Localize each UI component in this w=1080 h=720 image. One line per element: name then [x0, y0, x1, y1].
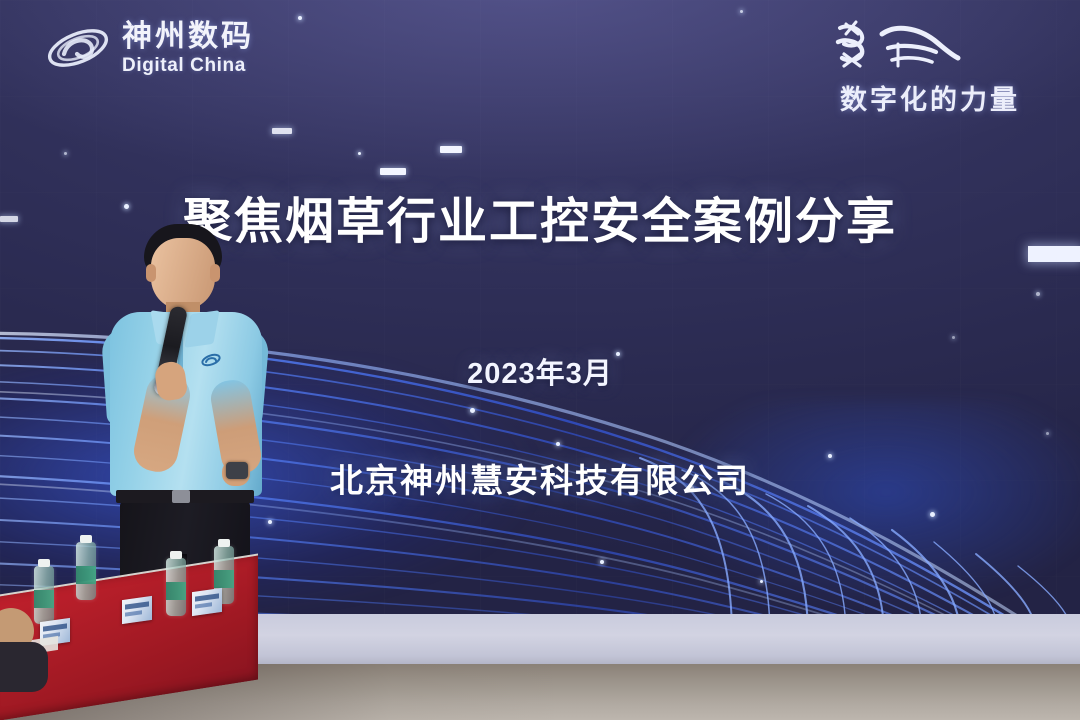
name-card-stripe	[125, 610, 142, 616]
speaker-ear-left	[146, 264, 156, 282]
particle-dot	[1046, 432, 1049, 435]
name-card-stripe	[195, 593, 219, 601]
particle-dot	[64, 152, 67, 155]
particle-dot	[1036, 292, 1040, 296]
presentation-clicker	[226, 462, 248, 479]
speaker-belt-buckle	[172, 490, 190, 503]
logo-english-name: Digital China	[122, 56, 254, 75]
bottle-cap	[80, 535, 92, 543]
name-card-stripe	[125, 601, 149, 609]
particle-dot	[298, 16, 302, 20]
particle-bar	[272, 128, 292, 134]
digital-china-logo: 神州数码 Digital China	[44, 18, 254, 78]
name-card-stripe	[195, 602, 212, 608]
particle-bar	[380, 168, 406, 175]
water-bottle	[34, 566, 54, 624]
particle-dot	[740, 10, 743, 13]
name-card	[122, 596, 152, 624]
digital-china-wordmark: 神州数码 Digital China	[122, 22, 254, 75]
event-logo: 数字化的力量	[804, 20, 1054, 116]
digital-china-swirl-logo-icon	[44, 18, 112, 78]
particle-bar	[440, 146, 462, 153]
juhe-calligraphy-logo-icon	[826, 18, 966, 80]
logo-chinese-name: 神州数码	[122, 22, 254, 52]
name-card	[192, 588, 222, 616]
audience-member-body	[0, 642, 48, 692]
speaker-ear-right	[210, 264, 220, 282]
event-slogan: 数字化的力量	[840, 78, 1020, 117]
bottle-cap	[170, 551, 182, 559]
bottle-label	[34, 590, 54, 608]
particle-dot	[600, 560, 604, 564]
particle-dot	[952, 336, 955, 339]
water-bottle	[166, 558, 186, 616]
particle-dot	[760, 580, 763, 583]
bottle-label	[214, 570, 234, 588]
particle-dot	[470, 408, 475, 413]
particle-dot	[930, 512, 935, 517]
speaker-face-shading	[151, 238, 215, 310]
bottle-cap	[38, 559, 50, 567]
bottle-cap	[218, 539, 230, 547]
bottle-label	[166, 582, 186, 600]
screenshot-root: 神州数码 Digital China	[0, 0, 1080, 720]
particle-dot	[358, 152, 361, 155]
water-bottle	[76, 542, 96, 600]
particle-dot	[556, 442, 560, 446]
name-card-stripe	[43, 623, 67, 631]
polo-chest-logo-icon	[200, 352, 222, 368]
bottle-label	[76, 566, 96, 584]
